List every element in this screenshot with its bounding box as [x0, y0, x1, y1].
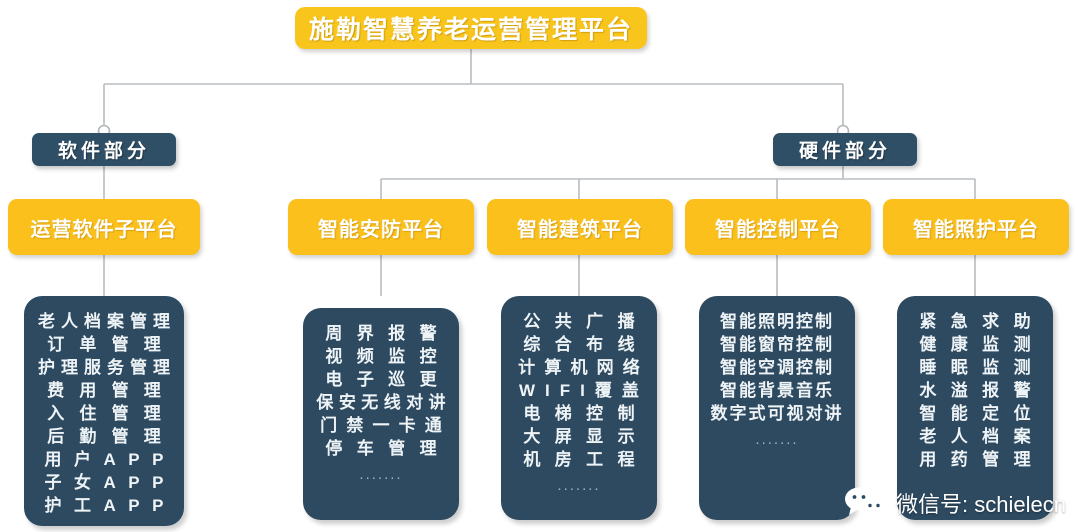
platform-smart-control-platform[interactable]: 智能控制平台 [685, 199, 871, 255]
branch-hardware[interactable]: 硬件部分 [773, 133, 917, 166]
panel-more-indicator: ....... [82, 525, 125, 526]
panel-feature-item: 智能定位 [897, 402, 1053, 425]
panel-smart-control-features: 智能照明控制智能窗帘控制智能空调控制智能背景音乐数字式可视对讲....... [699, 296, 855, 520]
panel-feature-item: 电子巡更 [303, 368, 459, 391]
panel-feature-item: 门禁一卡通 [303, 414, 459, 437]
panel-feature-item: 用户APP [24, 448, 184, 471]
panel-feature-item: 大屏显示 [501, 425, 657, 448]
panel-feature-item: 计算机网络 [501, 356, 657, 379]
org-chart-canvas: 施勒智慧养老运营管理平台 软件部分 硬件部分 运营软件子平台 智能安防平台 智能… [0, 0, 1080, 532]
panel-feature-item: 护工APP [24, 494, 184, 517]
panel-smart-care-features: 紧急求助健康监测睡眠监测水溢报警智能定位老人档案用药管理 [897, 296, 1053, 520]
platform-title: 施勒智慧养老运营管理平台 [295, 7, 647, 49]
panel-feature-item: 公共广播 [501, 310, 657, 333]
platform-label: 运营软件子平台 [31, 213, 178, 242]
panel-feature-item: 后勤管理 [24, 425, 184, 448]
panel-smart-building-features: 公共广播综合布线计算机网络WIFI覆盖电梯控制大屏显示机房工程....... [501, 296, 657, 520]
panel-feature-item: 数字式可视对讲 [711, 402, 844, 425]
panel-more-indicator: ....... [557, 479, 600, 493]
platform-smart-care-platform[interactable]: 智能照护平台 [883, 199, 1069, 255]
panel-feature-item: 健康监测 [897, 333, 1053, 356]
platform-label: 智能安防平台 [318, 213, 444, 242]
panel-feature-item: 紧急求助 [897, 310, 1053, 333]
panel-smart-security-features: 周界报警视频监控电子巡更保安无线对讲门禁一卡通停车管理....... [303, 308, 459, 520]
panel-feature-item: 停车管理 [303, 437, 459, 460]
platform-label: 智能照护平台 [913, 213, 1039, 242]
panel-feature-item: 老人档案 [897, 425, 1053, 448]
panel-feature-item: 电梯控制 [501, 402, 657, 425]
panel-feature-item: 智能窗帘控制 [720, 333, 834, 356]
branch-software-label: 软件部分 [58, 136, 150, 163]
panel-feature-item: 智能背景音乐 [720, 379, 834, 402]
panel-feature-item: 老人档案管理 [24, 310, 184, 333]
panel-feature-item: 周界报警 [303, 322, 459, 345]
branch-software[interactable]: 软件部分 [32, 133, 176, 166]
panel-feature-item: 订单管理 [24, 333, 184, 356]
panel-feature-item: 水溢报警 [897, 379, 1053, 402]
panel-feature-item: WIFI覆盖 [501, 379, 657, 402]
panel-feature-item: 智能照明控制 [720, 310, 834, 333]
panel-feature-item: 保安无线对讲 [303, 391, 459, 414]
panel-more-indicator: ....... [359, 468, 402, 482]
panel-feature-item: 综合布线 [501, 333, 657, 356]
platform-label: 智能建筑平台 [517, 213, 643, 242]
platform-operations-software-subplatform[interactable]: 运营软件子平台 [8, 199, 200, 255]
panel-feature-item: 入住管理 [24, 402, 184, 425]
platform-title-label: 施勒智慧养老运营管理平台 [309, 10, 633, 46]
panel-feature-item: 视频监控 [303, 345, 459, 368]
panel-feature-item: 机房工程 [501, 448, 657, 471]
platform-label: 智能控制平台 [715, 213, 841, 242]
panel-feature-item: 子女APP [24, 471, 184, 494]
platform-smart-building-platform[interactable]: 智能建筑平台 [487, 199, 673, 255]
panel-operations-software-features: 老人档案管理订单管理护理服务管理费用管理入住管理后勤管理用户APP子女APP护工… [24, 296, 184, 526]
platform-smart-security-platform[interactable]: 智能安防平台 [288, 199, 474, 255]
panel-feature-item: 用药管理 [897, 448, 1053, 471]
panel-feature-item: 费用管理 [24, 379, 184, 402]
panel-feature-item: 智能空调控制 [720, 356, 834, 379]
panel-feature-item: 睡眠监测 [897, 356, 1053, 379]
panel-more-indicator: ....... [755, 433, 798, 447]
panel-feature-item: 护理服务管理 [24, 356, 184, 379]
branch-hardware-label: 硬件部分 [799, 136, 891, 163]
